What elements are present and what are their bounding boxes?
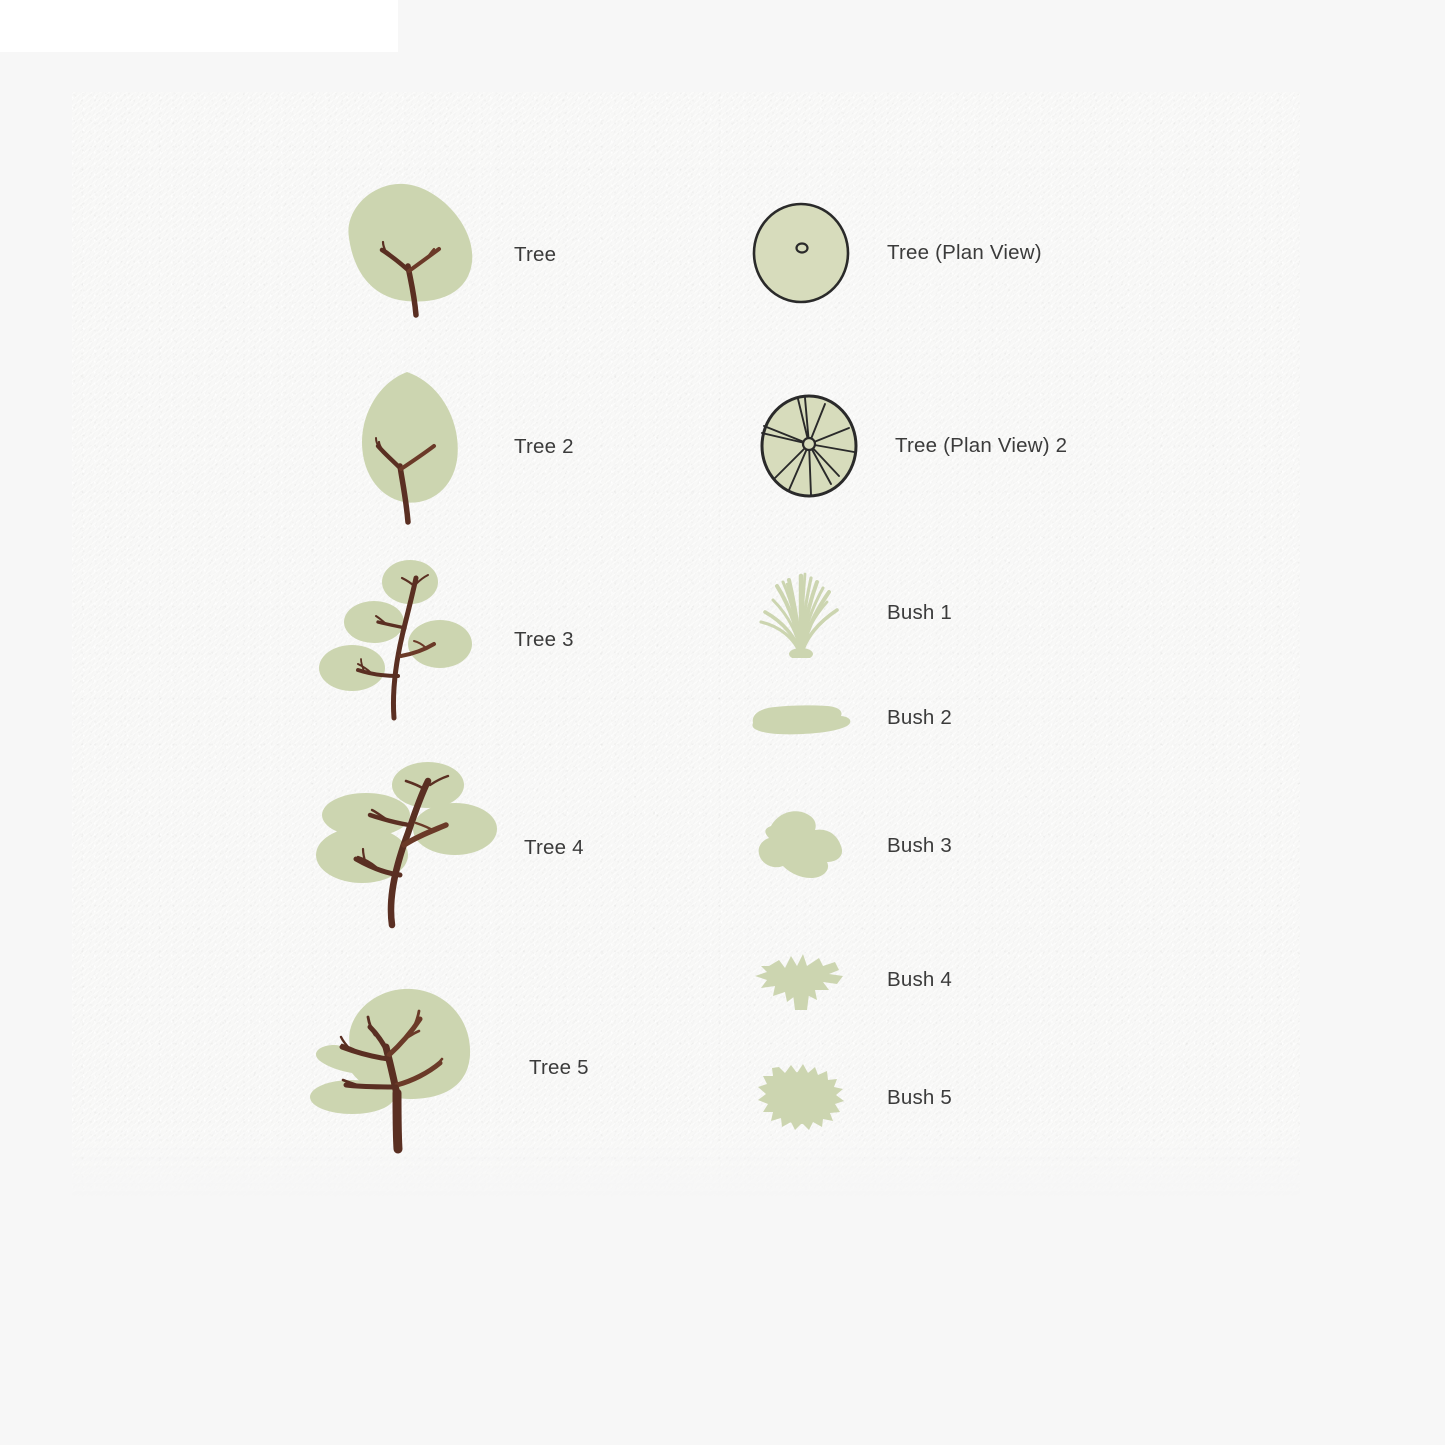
- tree-elevation-blob-icon[interactable]: [300, 170, 490, 340]
- symbol-label: Bush 5: [887, 1086, 952, 1110]
- symbol-row[interactable]: Bush 5: [745, 1055, 952, 1141]
- symbol-label: Tree 3: [514, 628, 574, 652]
- symbol-row[interactable]: Tree 5: [300, 975, 589, 1160]
- symbol-label: Tree 2: [514, 435, 574, 459]
- symbol-label: Tree 5: [529, 1056, 589, 1080]
- tree-elevation-teardrop-icon[interactable]: [300, 362, 490, 532]
- symbol-row[interactable]: Tree 2: [300, 362, 574, 532]
- symbol-row[interactable]: Tree 4: [300, 755, 584, 940]
- symbol-label: Tree (Plan View) 2: [895, 434, 1067, 458]
- bush-flat-blob-icon[interactable]: [745, 690, 857, 746]
- symbol-label: Bush 1: [887, 601, 952, 625]
- window-title-bar: [0, 0, 398, 52]
- tree-sapling-wide-icon[interactable]: [300, 755, 500, 940]
- symbol-label: Bush 4: [887, 968, 952, 992]
- tree-plan-spoked-icon[interactable]: [753, 390, 865, 502]
- symbol-row[interactable]: Tree: [300, 170, 556, 340]
- symbol-label: Bush 2: [887, 706, 952, 730]
- symbol-row[interactable]: Tree (Plan View): [745, 197, 1042, 309]
- symbol-label: Tree 4: [524, 836, 584, 860]
- paper-canvas: [72, 92, 1300, 1200]
- tree-plan-circle-icon[interactable]: [745, 197, 857, 309]
- symbol-row[interactable]: Tree (Plan View) 2: [745, 390, 1067, 502]
- symbol-row[interactable]: Tree 3: [300, 552, 574, 727]
- symbol-row[interactable]: Bush 2: [745, 690, 952, 746]
- symbol-row[interactable]: Bush 3: [745, 800, 952, 892]
- bush-lumpy-blob-icon[interactable]: [745, 800, 857, 892]
- symbol-label: Tree (Plan View): [887, 241, 1042, 265]
- tree-canopy-branching-icon[interactable]: [290, 975, 505, 1160]
- bush-spiky-low-icon[interactable]: [745, 940, 857, 1020]
- symbol-label: Bush 3: [887, 834, 952, 858]
- symbol-label: Tree: [514, 243, 556, 267]
- symbol-row[interactable]: Bush 4: [745, 940, 952, 1020]
- symbol-row[interactable]: Bush 1: [745, 568, 952, 658]
- bush-grass-tuft-icon[interactable]: [745, 568, 857, 658]
- tree-sapling-slender-icon[interactable]: [300, 552, 490, 727]
- bush-fluffy-round-icon[interactable]: [745, 1055, 857, 1141]
